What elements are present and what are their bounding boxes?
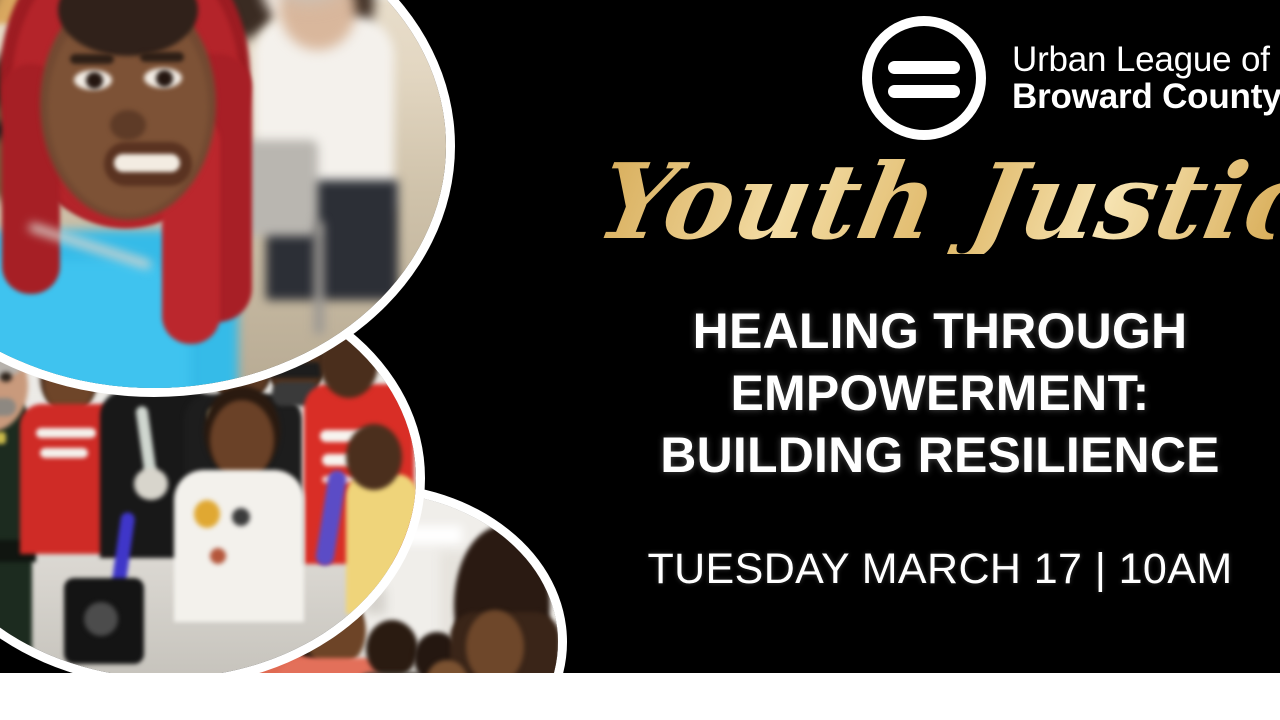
photo-crowd-portrait <box>0 0 446 388</box>
event-script-title: Youth Justice Day <box>590 150 1280 254</box>
photo-crowd-portrait-scene <box>0 0 446 388</box>
event-headline-line-1: HEALING THROUGH <box>600 300 1280 362</box>
flyer-content: Urban League of Broward County Youth Jus… <box>600 0 1280 673</box>
event-headline-line-3: BUILDING RESILIENCE <box>600 424 1280 486</box>
photo-collage <box>0 0 580 673</box>
flyer-artboard: Urban League of Broward County Youth Jus… <box>0 0 1280 673</box>
organization-wordmark: Urban League of Broward County <box>1012 41 1280 115</box>
organization-name-line1: Urban League of <box>1012 41 1280 78</box>
organization-name-line2: Broward County <box>1012 78 1280 115</box>
urban-league-equal-sign-logo <box>862 16 986 140</box>
bottom-white-strip <box>0 673 1280 720</box>
logo-equal-bar-bottom-icon <box>888 85 960 98</box>
logo-equal-bar-top-icon <box>888 61 960 74</box>
organization-logo-lockup: Urban League of Broward County <box>862 16 1280 140</box>
event-date-time: TUESDAY MARCH 17 | 10AM <box>600 545 1280 594</box>
event-headline-line-2: EMPOWERMENT: <box>600 362 1280 424</box>
youth-justice-day-flyer: Urban League of Broward County Youth Jus… <box>0 0 1280 720</box>
event-headline: HEALING THROUGH EMPOWERMENT: BUILDING RE… <box>600 300 1280 486</box>
logo-ring-icon <box>862 16 986 140</box>
